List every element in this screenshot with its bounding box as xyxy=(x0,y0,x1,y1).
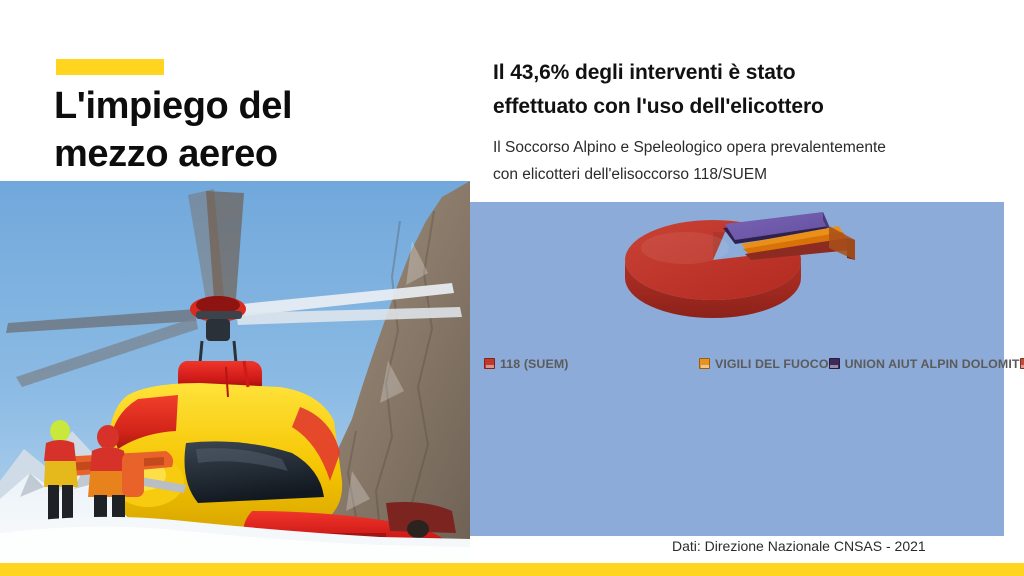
chart-panel: 118 (SUEM) VIGILI DEL FUOCO UNION AIUT A… xyxy=(470,202,1004,536)
subheadline-line-1: Il Soccorso Alpino e Speleologico opera … xyxy=(493,135,1013,162)
page-title-line-1: L'impiego del xyxy=(54,82,454,130)
legend-swatch-icon xyxy=(699,358,710,369)
subheadline: Il Soccorso Alpino e Speleologico opera … xyxy=(493,135,1013,188)
legend-item[interactable]: SAR xyxy=(1020,357,1024,371)
legend-item[interactable]: 118 (SUEM) xyxy=(484,357,699,371)
pie-edge-block-face xyxy=(829,226,855,260)
headline-line-2: effettuato con l'uso dell'elicottero xyxy=(493,90,1005,124)
legend-item-label: 118 (SUEM) xyxy=(500,357,568,371)
legend-item[interactable]: UNION AIUT ALPIN DOLOMIT xyxy=(829,357,1020,371)
title-accent-bar xyxy=(56,59,164,75)
pie-chart-graphic xyxy=(607,202,867,322)
page-title-line-2: mezzo aereo xyxy=(54,130,454,178)
slide-canvas: L'impiego del mezzo aereo xyxy=(0,0,1024,576)
headline-line-1: Il 43,6% degli interventi è stato xyxy=(493,56,1005,90)
chart-legend: 118 (SUEM) VIGILI DEL FUOCO UNION AIUT A… xyxy=(484,348,990,379)
legend-item-label: VIGILI DEL FUOCO xyxy=(715,357,829,371)
subheadline-line-2: con elicotteri dell'elisoccorso 118/SUEM xyxy=(493,162,1013,189)
legend-swatch-icon xyxy=(1020,358,1024,369)
page-title: L'impiego del mezzo aereo xyxy=(54,82,454,179)
helicopter-photo xyxy=(0,181,470,563)
headline: Il 43,6% degli interventi è stato effett… xyxy=(493,56,1005,124)
helicopter-photo-graphic xyxy=(0,181,470,563)
pie-chart xyxy=(470,202,1004,330)
footer-accent-bar xyxy=(0,563,1024,576)
legend-swatch-icon xyxy=(484,358,495,369)
legend-item-label: UNION AIUT ALPIN DOLOMIT xyxy=(845,357,1020,371)
legend-item[interactable]: VIGILI DEL FUOCO xyxy=(699,357,829,371)
pie-highlight xyxy=(641,232,729,264)
legend-swatch-icon xyxy=(829,358,840,369)
source-note: Dati: Direzione Nazionale CNSAS - 2021 xyxy=(672,538,926,554)
